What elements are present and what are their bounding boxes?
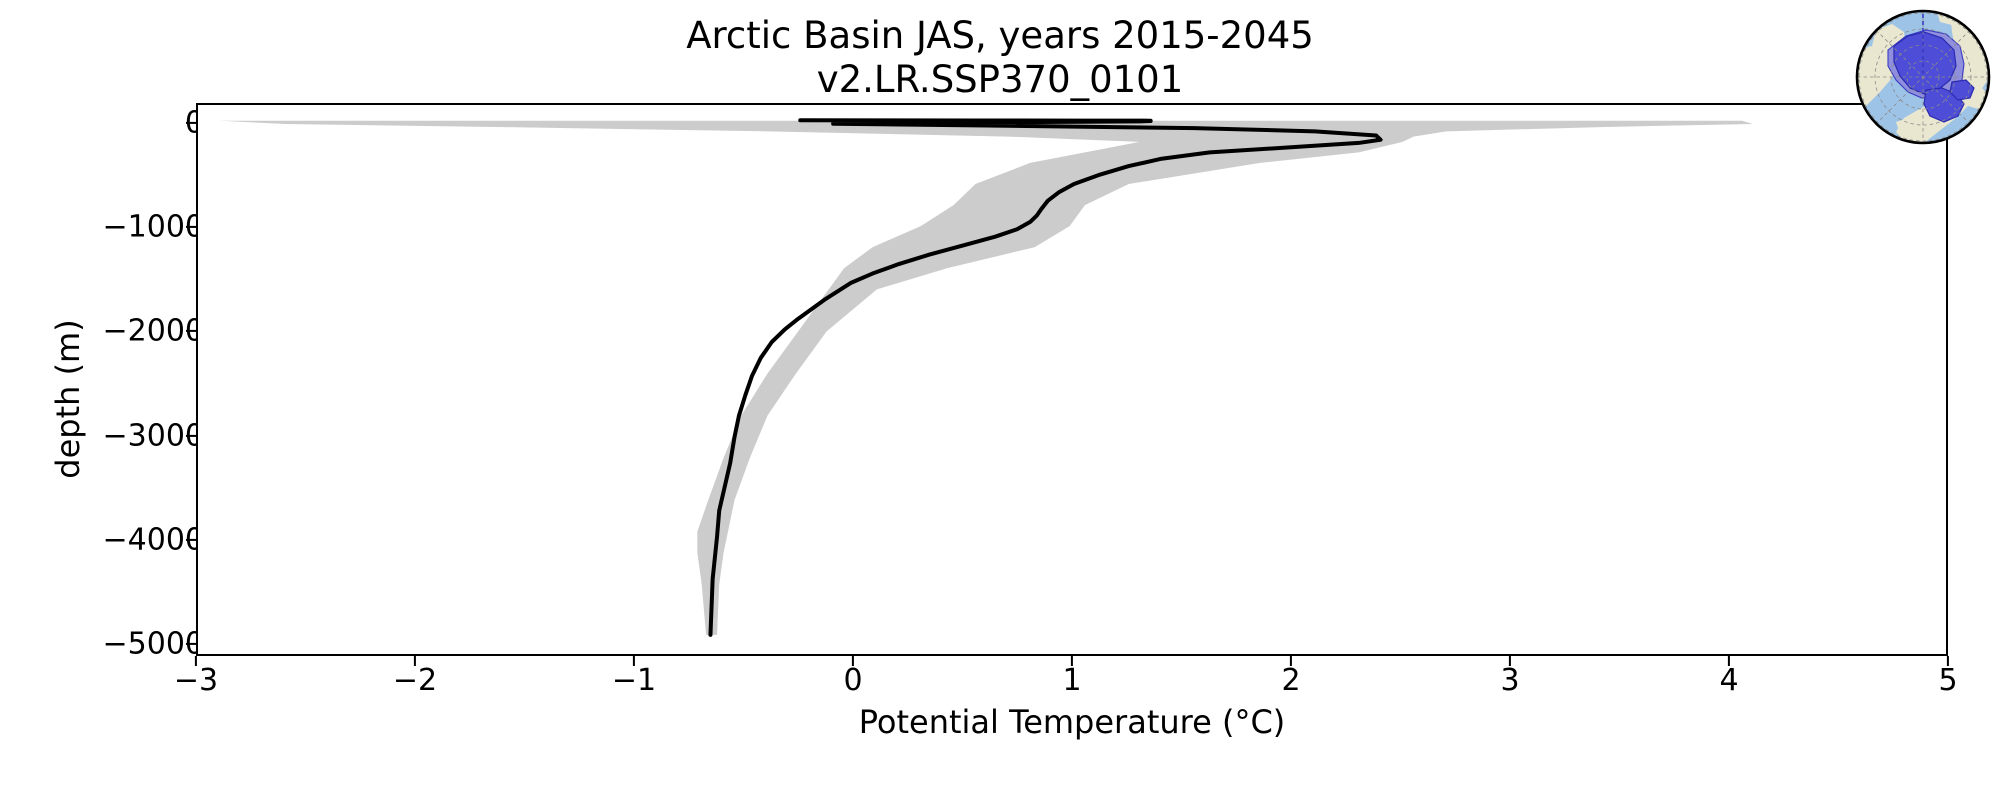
y-tick-mark-3000 — [186, 435, 196, 437]
x-tick-mark-neg1 — [633, 656, 635, 666]
arctic-region-inset-map — [1852, 6, 1994, 148]
title-line-1: Arctic Basin JAS, years 2015-2045 — [0, 14, 2000, 58]
x-tick-label-neg2: −2 — [393, 663, 437, 698]
inset-map-contents — [1852, 8, 1994, 146]
x-tick-mark-0 — [852, 656, 854, 666]
x-tick-mark-1 — [1071, 656, 1073, 666]
ensemble-spread-band — [220, 121, 1753, 635]
x-tick-mark-5 — [1947, 656, 1949, 666]
x-tick-label-neg3: −3 — [174, 663, 218, 698]
x-tick-mark-4 — [1728, 656, 1730, 666]
y-tick-mark-5000 — [186, 643, 196, 645]
profile-plot-svg — [198, 105, 1948, 656]
x-tick-label-0: 0 — [843, 663, 862, 698]
x-tick-label-5: 5 — [1938, 663, 1957, 698]
figure-title: Arctic Basin JAS, years 2015-2045 v2.LR.… — [0, 14, 2000, 102]
y-tick-mark-4000 — [186, 539, 196, 541]
y-tick-mark-1000 — [186, 226, 196, 228]
x-tick-mark-neg2 — [414, 656, 416, 666]
x-tick-label-1: 1 — [1062, 663, 1081, 698]
x-tick-mark-2 — [1290, 656, 1292, 666]
x-tick-mark-neg3 — [195, 656, 197, 666]
plot-area — [196, 103, 1948, 656]
y-tick-mark-2000 — [186, 330, 196, 332]
y-axis-label: depth (m) — [49, 269, 87, 529]
x-tick-label-3: 3 — [1500, 663, 1519, 698]
x-tick-mark-3 — [1509, 656, 1511, 666]
x-tick-label-neg1: −1 — [612, 663, 656, 698]
x-axis-label: Potential Temperature (°C) — [196, 703, 1948, 741]
figure-canvas: Arctic Basin JAS, years 2015-2045 v2.LR.… — [0, 0, 2000, 800]
x-tick-label-2: 2 — [1281, 663, 1300, 698]
y-tick-mark-0 — [186, 122, 196, 124]
title-line-2: v2.LR.SSP370_0101 — [0, 58, 2000, 102]
x-tick-label-4: 4 — [1719, 663, 1738, 698]
